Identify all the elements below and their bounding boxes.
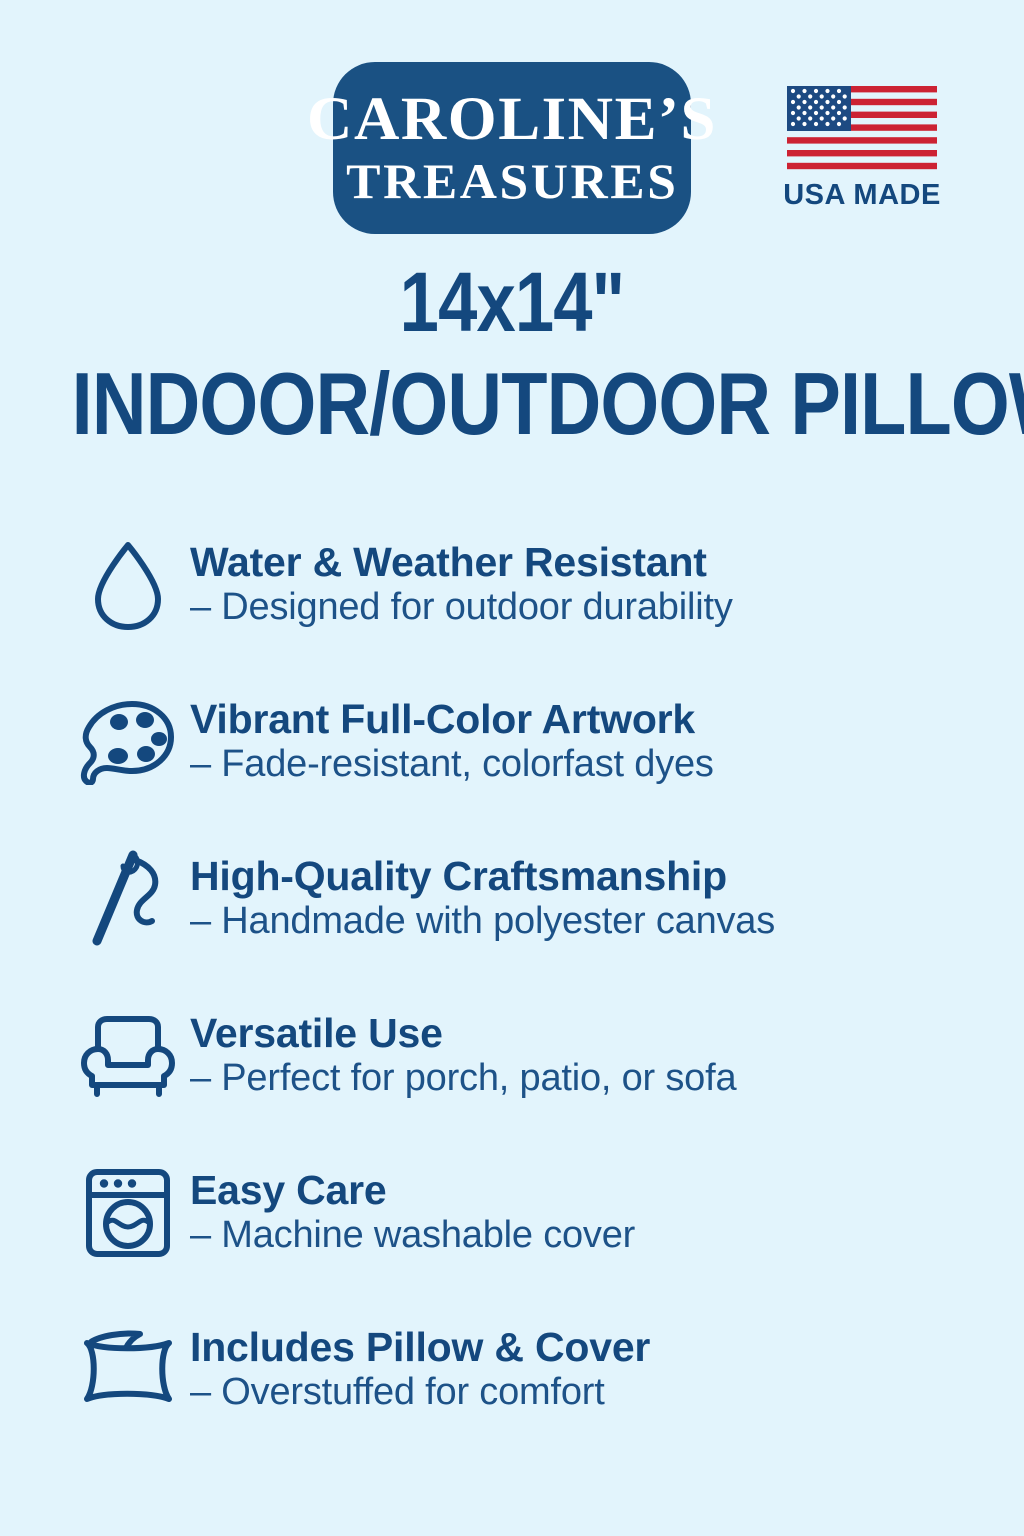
feature-subtitle: – Fade-resistant, colorfast dyes: [190, 743, 714, 786]
brand-name-line2: TREASURES: [346, 155, 678, 208]
usa-made-label: USA MADE: [783, 179, 941, 212]
header: CAROLINE’S TREASURES: [0, 0, 1024, 248]
list-item: Easy Care – Machine washable cover: [76, 1134, 1024, 1291]
product-heading: INDOOR/OUTDOOR PILLOW: [72, 360, 953, 448]
water-drop-icon: [76, 537, 180, 633]
feature-text: Includes Pillow & Cover – Overstuffed fo…: [180, 1326, 650, 1414]
brand-name-line1: CAROLINE’S: [307, 89, 717, 151]
feature-subtitle: – Overstuffed for comfort: [190, 1371, 650, 1414]
feature-text: Easy Care – Machine washable cover: [180, 1169, 635, 1257]
feature-title: Water & Weather Resistant: [190, 541, 733, 584]
feature-title: Easy Care: [190, 1169, 635, 1212]
usa-made-badge: USA MADE: [784, 86, 940, 212]
feature-title: Versatile Use: [190, 1012, 736, 1055]
feature-title: High-Quality Craftsmanship: [190, 855, 775, 898]
list-item: High-Quality Craftsmanship – Handmade wi…: [76, 820, 1024, 977]
list-item: Versatile Use – Perfect for porch, patio…: [76, 977, 1024, 1134]
feature-subtitle: – Machine washable cover: [190, 1214, 635, 1257]
needle-and-thread-icon: [76, 847, 180, 951]
feature-title: Vibrant Full-Color Artwork: [190, 698, 714, 741]
paint-palette-icon: [76, 699, 180, 785]
armchair-icon: [76, 1015, 180, 1097]
pillow-icon: [76, 1329, 180, 1411]
feature-text: Vibrant Full-Color Artwork – Fade-resist…: [180, 698, 714, 786]
feature-list: Water & Weather Resistant – Designed for…: [0, 506, 1024, 1448]
feature-title: Includes Pillow & Cover: [190, 1326, 650, 1369]
list-item: Vibrant Full-Color Artwork – Fade-resist…: [76, 663, 1024, 820]
feature-subtitle: – Handmade with polyester canvas: [190, 900, 775, 943]
feature-text: High-Quality Craftsmanship – Handmade wi…: [180, 855, 775, 943]
feature-subtitle: – Designed for outdoor durability: [190, 586, 733, 629]
infographic-page: CAROLINE’S TREASURES: [0, 0, 1024, 1536]
us-flag-icon: [787, 86, 937, 170]
feature-text: Water & Weather Resistant – Designed for…: [180, 541, 733, 629]
feature-subtitle: – Perfect for porch, patio, or sofa: [190, 1057, 736, 1100]
washing-machine-icon: [76, 1167, 180, 1259]
brand-logo-badge: CAROLINE’S TREASURES: [333, 62, 691, 234]
list-item: Water & Weather Resistant – Designed for…: [76, 506, 1024, 663]
list-item: Includes Pillow & Cover – Overstuffed fo…: [76, 1291, 1024, 1448]
size-heading: 14x14": [82, 260, 942, 344]
feature-text: Versatile Use – Perfect for porch, patio…: [180, 1012, 736, 1100]
